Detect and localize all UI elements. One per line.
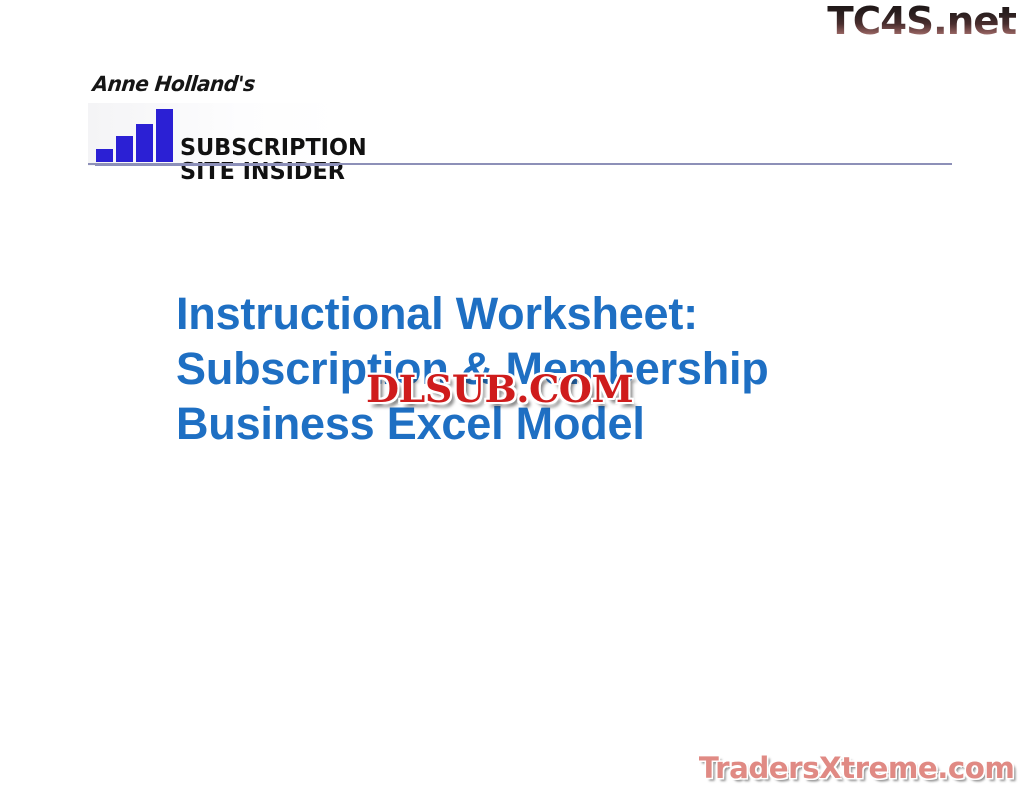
anne-holland-signature: Anne Holland's <box>91 72 256 96</box>
bar-chart-bar-4 <box>156 109 173 162</box>
logo-wordmark: SUBSCRIPTION SITE INSIDER <box>180 137 372 184</box>
bar-chart-bar-2 <box>116 136 133 162</box>
slide-canvas: TC4S.net Anne Holland's SUBSCRIPTION SIT… <box>0 0 1024 791</box>
header-divider-rule <box>88 163 952 165</box>
subscription-site-insider-logo: Anne Holland's SUBSCRIPTION SITE INSIDER <box>88 72 340 166</box>
bar-chart-icon <box>95 106 177 162</box>
tc4s-watermark: TC4S.net <box>827 2 1016 40</box>
logo-wordmark-line-1: SUBSCRIPTION <box>180 137 367 161</box>
bar-chart-bar-3 <box>136 124 153 162</box>
logo-lower-panel: SUBSCRIPTION SITE INSIDER <box>88 103 340 166</box>
tradersxtreme-watermark: TradersXtreme.com <box>698 754 1014 783</box>
page-title-line-1: Instructional Worksheet: <box>176 286 976 341</box>
bar-chart-bar-1 <box>96 149 113 162</box>
dlsub-watermark: DLSUB.COM <box>366 371 633 408</box>
